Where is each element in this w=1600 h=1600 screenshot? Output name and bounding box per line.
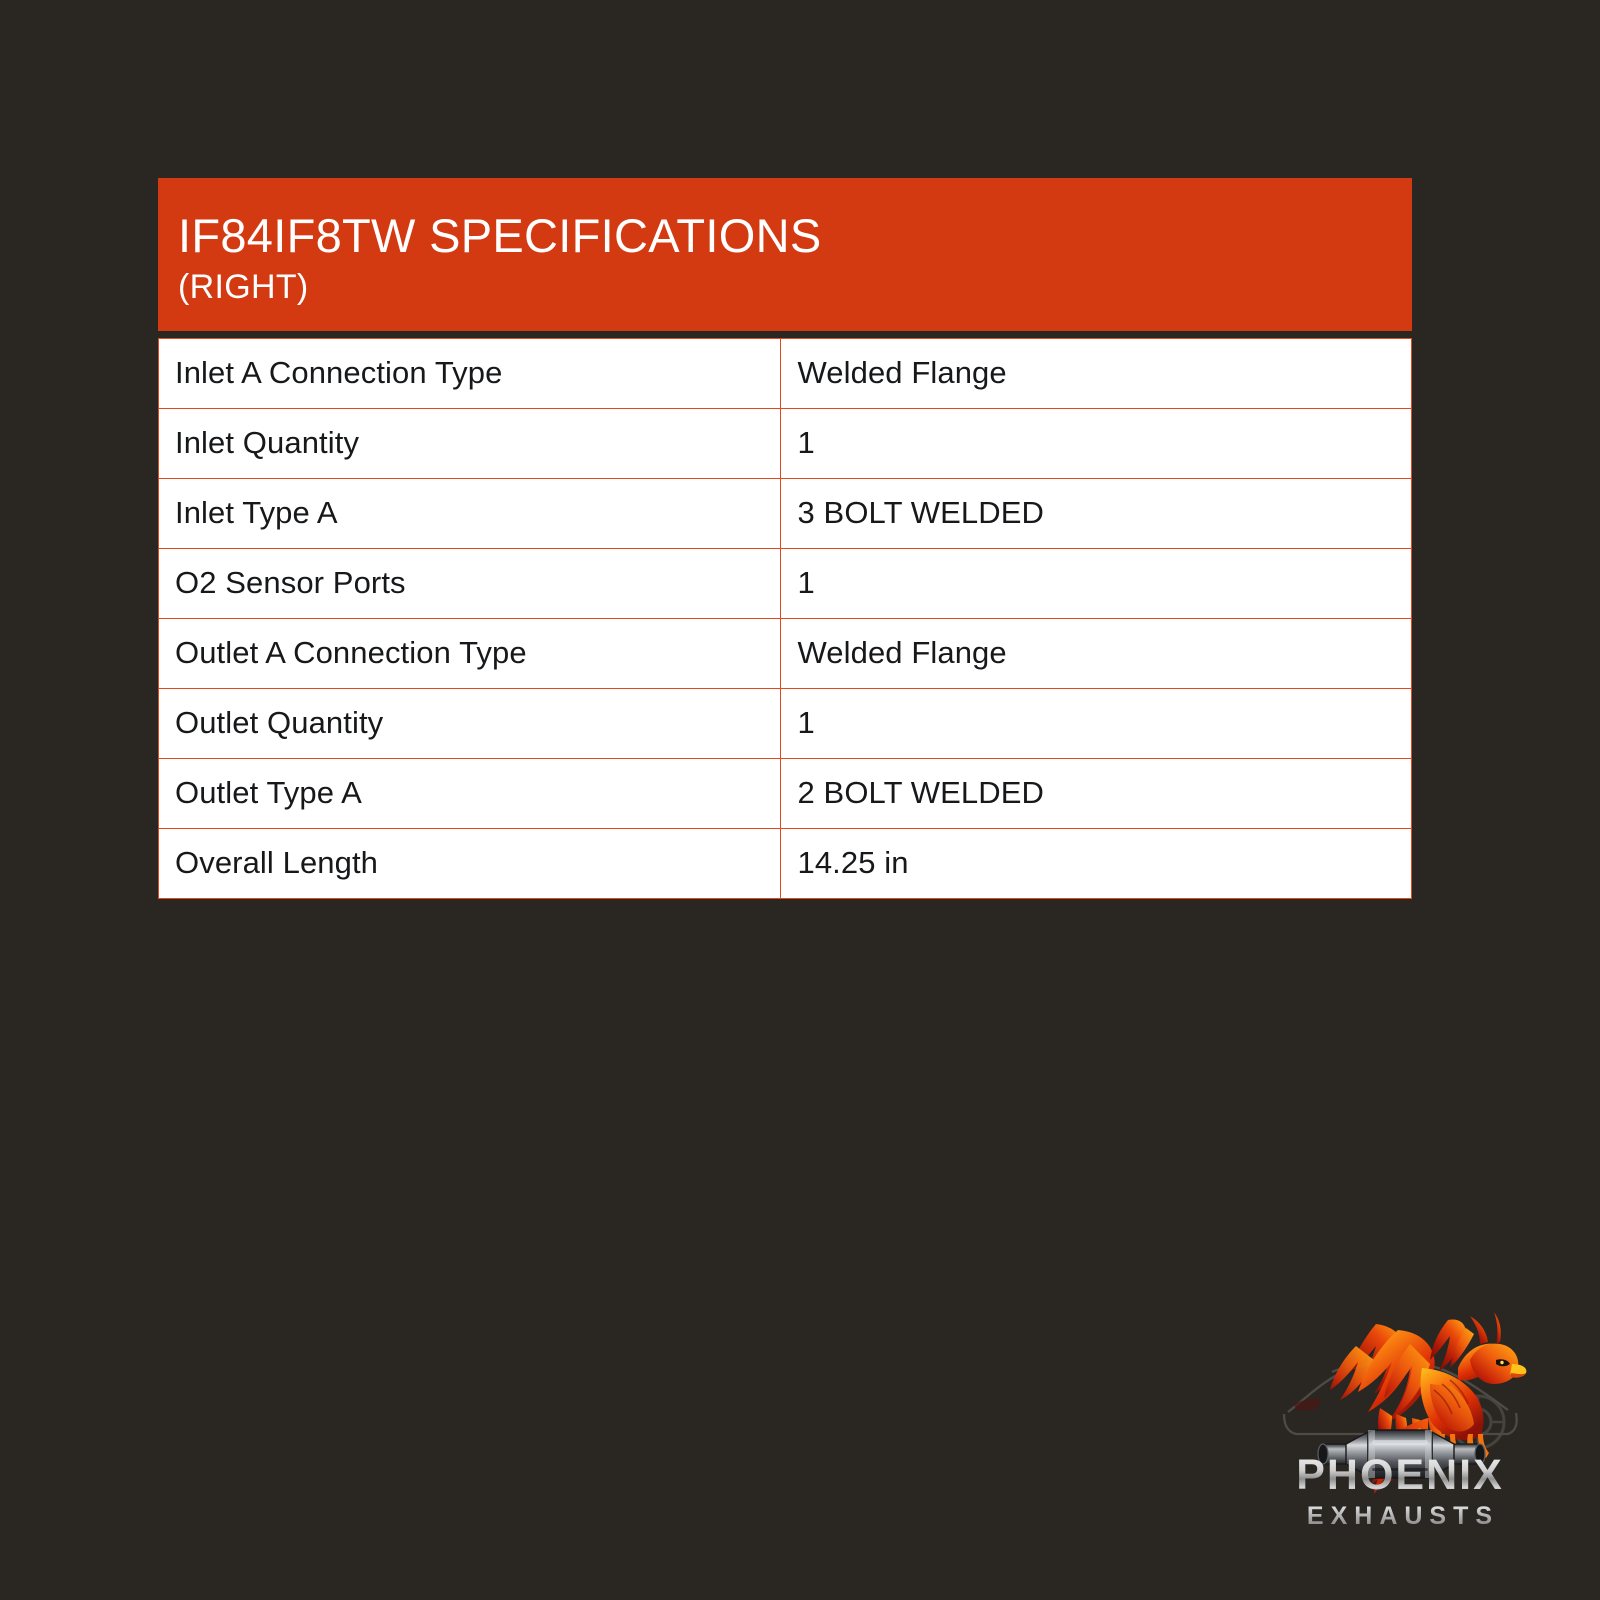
specifications-table-body: Inlet A Connection Type Welded Flange In… — [159, 338, 1412, 898]
spec-label: Outlet Type A — [159, 758, 781, 828]
brand-logo: PHOENIX EXHAUSTS — [1272, 1272, 1528, 1528]
spec-value: Welded Flange — [781, 618, 1412, 688]
spec-label: Outlet A Connection Type — [159, 618, 781, 688]
table-row: Inlet Quantity 1 — [159, 408, 1412, 478]
car-headlight-icon — [1294, 1399, 1322, 1410]
table-row: Outlet Quantity 1 — [159, 688, 1412, 758]
page-title: IF84IF8TW SPECIFICATIONS — [178, 212, 1392, 259]
brand-name: PHOENIX — [1272, 1454, 1528, 1497]
spec-value: Welded Flange — [781, 338, 1412, 408]
spec-label: Inlet Quantity — [159, 408, 781, 478]
spec-value: 3 BOLT WELDED — [781, 478, 1412, 548]
page-subtitle: (RIGHT) — [178, 266, 1392, 309]
spec-value: 1 — [781, 408, 1412, 478]
header-table-divider — [158, 331, 1412, 338]
table-row: Overall Length 14.25 in — [159, 828, 1412, 898]
specifications-header: IF84IF8TW SPECIFICATIONS (RIGHT) — [158, 178, 1412, 331]
table-row: Outlet Type A 2 BOLT WELDED — [159, 758, 1412, 828]
page-root: IF84IF8TW SPECIFICATIONS (RIGHT) Inlet A… — [0, 0, 1600, 1600]
spec-label: Outlet Quantity — [159, 688, 781, 758]
brand-wordmark: PHOENIX EXHAUSTS — [1272, 1454, 1528, 1529]
spec-value: 1 — [781, 688, 1412, 758]
specifications-card: IF84IF8TW SPECIFICATIONS (RIGHT) Inlet A… — [158, 178, 1412, 899]
spec-value: 14.25 in — [781, 828, 1412, 898]
spec-value: 2 BOLT WELDED — [781, 758, 1412, 828]
spec-label: Inlet A Connection Type — [159, 338, 781, 408]
spec-label: O2 Sensor Ports — [159, 548, 781, 618]
brand-tagline: EXHAUSTS — [1272, 1504, 1528, 1529]
table-row: Inlet Type A 3 BOLT WELDED — [159, 478, 1412, 548]
spec-value: 1 — [781, 548, 1412, 618]
table-row: Outlet A Connection Type Welded Flange — [159, 618, 1412, 688]
spec-label: Overall Length — [159, 828, 781, 898]
table-row: Inlet A Connection Type Welded Flange — [159, 338, 1412, 408]
specifications-table: Inlet A Connection Type Welded Flange In… — [158, 338, 1412, 899]
table-row: O2 Sensor Ports 1 — [159, 548, 1412, 618]
spec-label: Inlet Type A — [159, 478, 781, 548]
